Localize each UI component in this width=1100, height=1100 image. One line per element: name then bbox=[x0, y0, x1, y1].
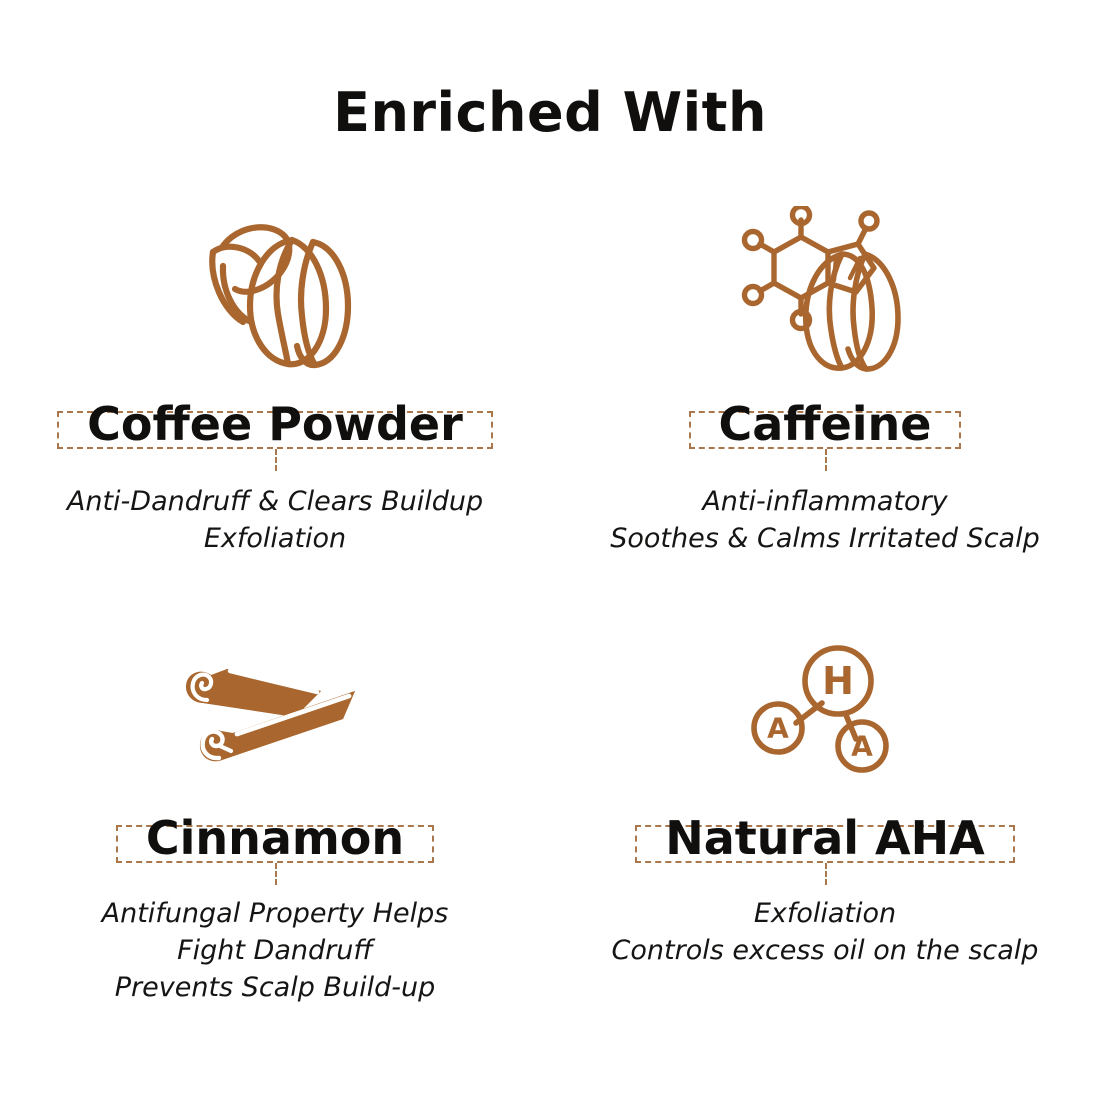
ingredient-name-plate: Coffee Powder bbox=[57, 400, 493, 449]
coffee-beans-icon bbox=[195, 196, 355, 386]
dashed-tick bbox=[825, 863, 827, 885]
ingredient-name-plate: Cinnamon bbox=[116, 814, 434, 863]
ingredient-card-caffeine: Caffeine Anti-inflammatory Soothes & Cal… bbox=[550, 196, 1100, 616]
aha-molecule-icon: H A A bbox=[750, 616, 900, 796]
dashed-tick bbox=[825, 449, 827, 471]
aha-node-label-h: H bbox=[822, 659, 854, 703]
aha-node-label-a-bottom: A bbox=[851, 729, 873, 762]
ingredient-name: Caffeine bbox=[689, 400, 962, 449]
enriched-with-infographic: Enriched With bbox=[0, 0, 1100, 1100]
ingredient-name: Natural AHA bbox=[635, 814, 1014, 863]
page-title: Enriched With bbox=[0, 86, 1100, 140]
ingredient-description: Anti-Dandruff & Clears Buildup Exfoliati… bbox=[67, 483, 483, 558]
ingredient-name-plate: Natural AHA bbox=[635, 814, 1014, 863]
ingredient-name: Coffee Powder bbox=[57, 400, 493, 449]
dashed-tick bbox=[275, 863, 277, 885]
caffeine-molecule-bean-icon bbox=[738, 196, 913, 386]
ingredient-card-coffee-powder: Coffee Powder Anti-Dandruff & Clears Bui… bbox=[0, 196, 550, 616]
ingredient-description: Anti-inflammatory Soothes & Calms Irrita… bbox=[610, 483, 1040, 558]
cinnamon-sticks-icon bbox=[175, 616, 375, 796]
ingredient-name: Cinnamon bbox=[116, 814, 434, 863]
ingredient-name-plate: Caffeine bbox=[689, 400, 962, 449]
ingredient-card-cinnamon: Cinnamon Antifungal Property Helps Fight… bbox=[0, 616, 550, 1046]
ingredient-description: Exfoliation Controls excess oil on the s… bbox=[612, 895, 1039, 970]
ingredient-description: Antifungal Property Helps Fight Dandruff… bbox=[102, 895, 449, 1007]
dashed-tick bbox=[275, 449, 277, 471]
aha-node-label-a-left: A bbox=[767, 711, 789, 744]
ingredient-card-natural-aha: H A A Natural AHA Exfoliation Controls e… bbox=[550, 616, 1100, 1046]
ingredient-grid: Coffee Powder Anti-Dandruff & Clears Bui… bbox=[0, 196, 1100, 1046]
